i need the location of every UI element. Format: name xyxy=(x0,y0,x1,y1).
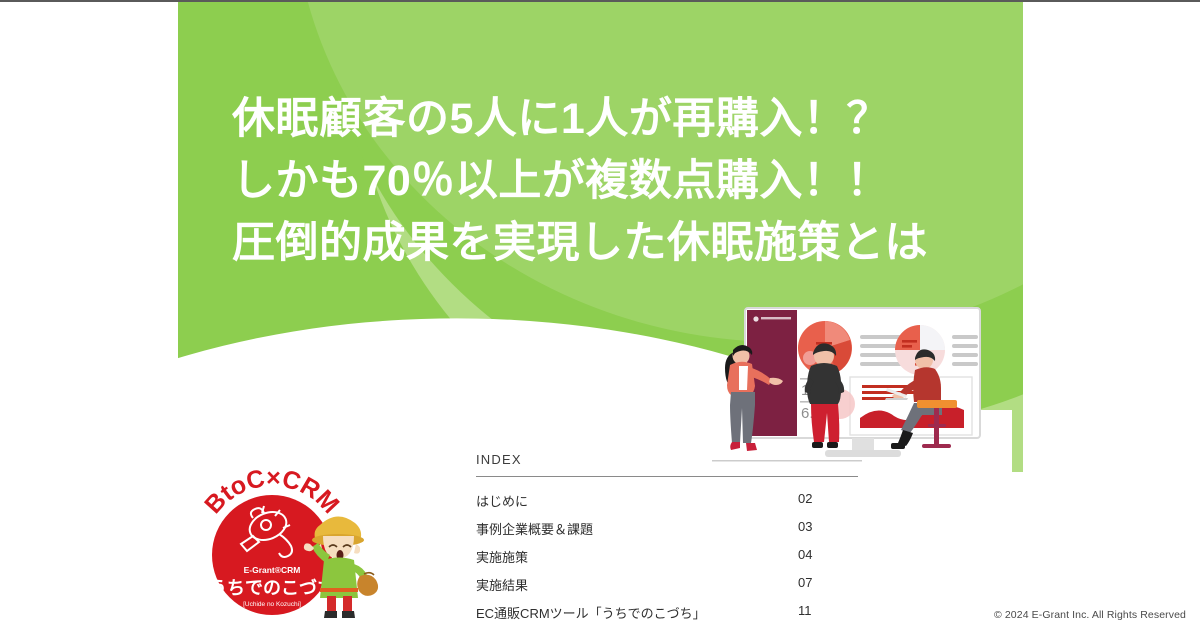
slide-canvas: 休眠顧客の5人に1人が再購入！？ しかも70％以上が複数点購入！！ 圧倒的成果を… xyxy=(0,0,1200,630)
logo-brand-small: E-Grant®CRM xyxy=(244,565,301,575)
index-item-page: 02 xyxy=(798,491,812,506)
index-row[interactable]: EC通販CRMツール「うちでのこづち」 11 xyxy=(476,598,858,626)
index-item-title: 実施施策 xyxy=(476,547,528,566)
page-title: 休眠顧客の5人に1人が再購入！？ しかも70％以上が複数点購入！！ 圧倒的成果を… xyxy=(232,88,992,274)
index-heading: INDEX xyxy=(476,452,858,467)
index-item-page: 11 xyxy=(798,603,812,618)
index-item-title: 実施結果 xyxy=(476,575,528,594)
logo-brand-romaji: [Uchide no Kozuchi] xyxy=(243,601,301,608)
copyright-text: © 2024 E-Grant Inc. All Rights Reserved xyxy=(994,609,1186,621)
brand-logo: BtoC×CRM E-Grant®CRM うちでのこづち [Uchide no … xyxy=(180,470,410,625)
index-row[interactable]: 実施施策 04 xyxy=(476,542,858,570)
index-item-title: はじめに xyxy=(476,491,528,510)
index-divider xyxy=(476,476,858,477)
index-list: はじめに 02 事例企業概要＆課題 03 実施施策 04 実施結果 07 EC通… xyxy=(476,486,858,626)
index-row[interactable]: はじめに 02 xyxy=(476,486,858,514)
logo-brand-name: うちでのこづち xyxy=(209,578,335,598)
index-item-title: EC通販CRMツール「うちでのこづち」 xyxy=(476,603,706,622)
index-block: INDEX はじめに 02 事例企業概要＆課題 03 実施施策 04 実施結果 … xyxy=(476,452,858,626)
index-item-page: 04 xyxy=(798,547,812,562)
index-item-title: 事例企業概要＆課題 xyxy=(476,519,593,538)
index-item-page: 03 xyxy=(798,519,812,534)
index-row[interactable]: 事例企業概要＆課題 03 xyxy=(476,514,858,542)
index-row[interactable]: 実施結果 07 xyxy=(476,570,858,598)
index-item-page: 07 xyxy=(798,575,812,590)
